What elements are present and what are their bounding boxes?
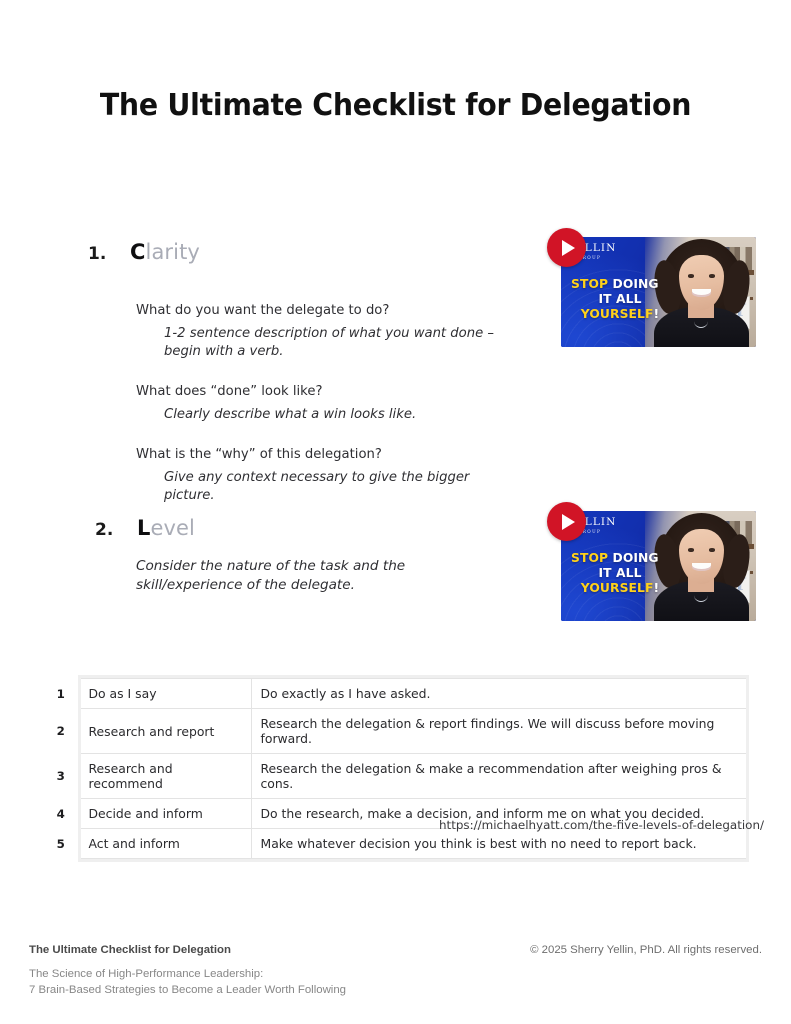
row-number: 4 [49, 799, 79, 829]
level-description: Do exactly as I have asked. [251, 679, 749, 709]
row-number: 5 [49, 829, 79, 859]
level-description: Research the delegation & make a recomme… [251, 754, 749, 799]
video-headline-yourself: YOURSELF [581, 307, 654, 321]
presenter-smile [692, 563, 712, 571]
section-clarity-heading: 1. Clarity [88, 240, 518, 264]
section-clarity-body: What do you want the delegate to do? 1-2… [136, 301, 518, 504]
source-url-link[interactable]: https://michaelhyatt.com/the-five-levels… [439, 818, 764, 832]
video-headline-stop: STOP [571, 277, 608, 291]
qa-item: What do you want the delegate to do? 1-2… [136, 301, 518, 361]
row-number: 3 [49, 754, 79, 799]
section-level-heading: 2. Level [95, 516, 515, 540]
section-level-description: Consider the nature of the task and the … [136, 557, 496, 595]
video-thumbnail-clarity[interactable]: Y ELLIN GROUP STOP DOING IT ALL YOURSELF… [561, 237, 756, 347]
video-headline: STOP DOING IT ALL YOURSELF! [571, 551, 669, 596]
presenter-eye-left [688, 548, 695, 551]
video-headline-line-2: IT ALL [571, 292, 669, 307]
section-clarity-title-capital: C [130, 240, 146, 264]
play-button-icon[interactable] [547, 228, 586, 267]
presenter-eye-right [709, 274, 716, 277]
video-headline-line-2: IT ALL [571, 566, 669, 581]
section-clarity-title-rest: larity [146, 240, 200, 264]
row-number: 2 [49, 709, 79, 754]
qa-item: What does “done” look like? Clearly desc… [136, 382, 518, 424]
qa-item: What is the “why” of this delegation? Gi… [136, 445, 518, 505]
section-clarity-number: 1. [88, 244, 130, 264]
section-level: 2. Level Consider the nature of the task… [95, 516, 515, 595]
table-row: 3 Research and recommend Research the de… [49, 754, 749, 799]
presenter-eye-left [688, 274, 695, 277]
footer-copyright: © 2025 Sherry Yellin, PhD. All rights re… [530, 944, 762, 956]
video-headline-line-3: YOURSELF! [571, 307, 669, 322]
video-headline-line-1: STOP DOING [571, 551, 669, 566]
video-headline-doing: DOING [608, 551, 659, 565]
level-name: Do as I say [79, 679, 251, 709]
video-headline-yourself: YOURSELF [581, 581, 654, 595]
level-name: Decide and inform [79, 799, 251, 829]
video-frame: Y ELLIN GROUP STOP DOING IT ALL YOURSELF… [561, 511, 756, 621]
video-headline-stop: STOP [571, 551, 608, 565]
answer-text: 1-2 sentence description of what you wan… [164, 325, 518, 361]
level-description: Make whatever decision you think is best… [251, 829, 749, 859]
table-row: 2 Research and report Research the deleg… [49, 709, 749, 754]
section-level-title-capital: L [137, 516, 150, 540]
table-row: 5 Act and inform Make whatever decision … [49, 829, 749, 859]
row-number: 1 [49, 679, 79, 709]
question-text: What is the “why” of this delegation? [136, 445, 518, 464]
question-text: What do you want the delegate to do? [136, 301, 518, 320]
level-name: Research and report [79, 709, 251, 754]
answer-text: Clearly describe what a win looks like. [164, 406, 518, 424]
section-level-title: Level [137, 516, 195, 540]
checklist-page: The Ultimate Checklist for Delegation 1.… [0, 0, 791, 1024]
video-headline-bang: ! [653, 307, 659, 321]
level-description: Research the delegation & report finding… [251, 709, 749, 754]
video-thumbnail-level[interactable]: Y ELLIN GROUP STOP DOING IT ALL YOURSELF… [561, 511, 756, 621]
footer-subtitle: The Science of High-Performance Leadersh… [29, 966, 346, 998]
presenter-eye-right [709, 548, 716, 551]
answer-text: Give any context necessary to give the b… [164, 469, 518, 505]
level-name: Act and inform [79, 829, 251, 859]
video-headline-doing: DOING [608, 277, 659, 291]
table-row: 1 Do as I say Do exactly as I have asked… [49, 679, 749, 709]
video-headline-bang: ! [653, 581, 659, 595]
section-level-title-rest: evel [150, 516, 195, 540]
question-text: What does “done” look like? [136, 382, 518, 401]
video-headline: STOP DOING IT ALL YOURSELF! [571, 277, 669, 322]
level-name: Research and recommend [79, 754, 251, 799]
video-frame: Y ELLIN GROUP STOP DOING IT ALL YOURSELF… [561, 237, 756, 347]
presenter-smile [692, 289, 712, 297]
video-headline-line-3: YOURSELF! [571, 581, 669, 596]
section-clarity-title: Clarity [130, 240, 200, 264]
section-clarity: 1. Clarity What do you want the delegate… [88, 240, 518, 504]
video-headline-line-1: STOP DOING [571, 277, 669, 292]
section-level-number: 2. [95, 520, 137, 540]
play-button-icon[interactable] [547, 502, 586, 541]
footer-title: The Ultimate Checklist for Delegation [29, 944, 231, 956]
page-title: The Ultimate Checklist for Delegation [28, 88, 764, 123]
